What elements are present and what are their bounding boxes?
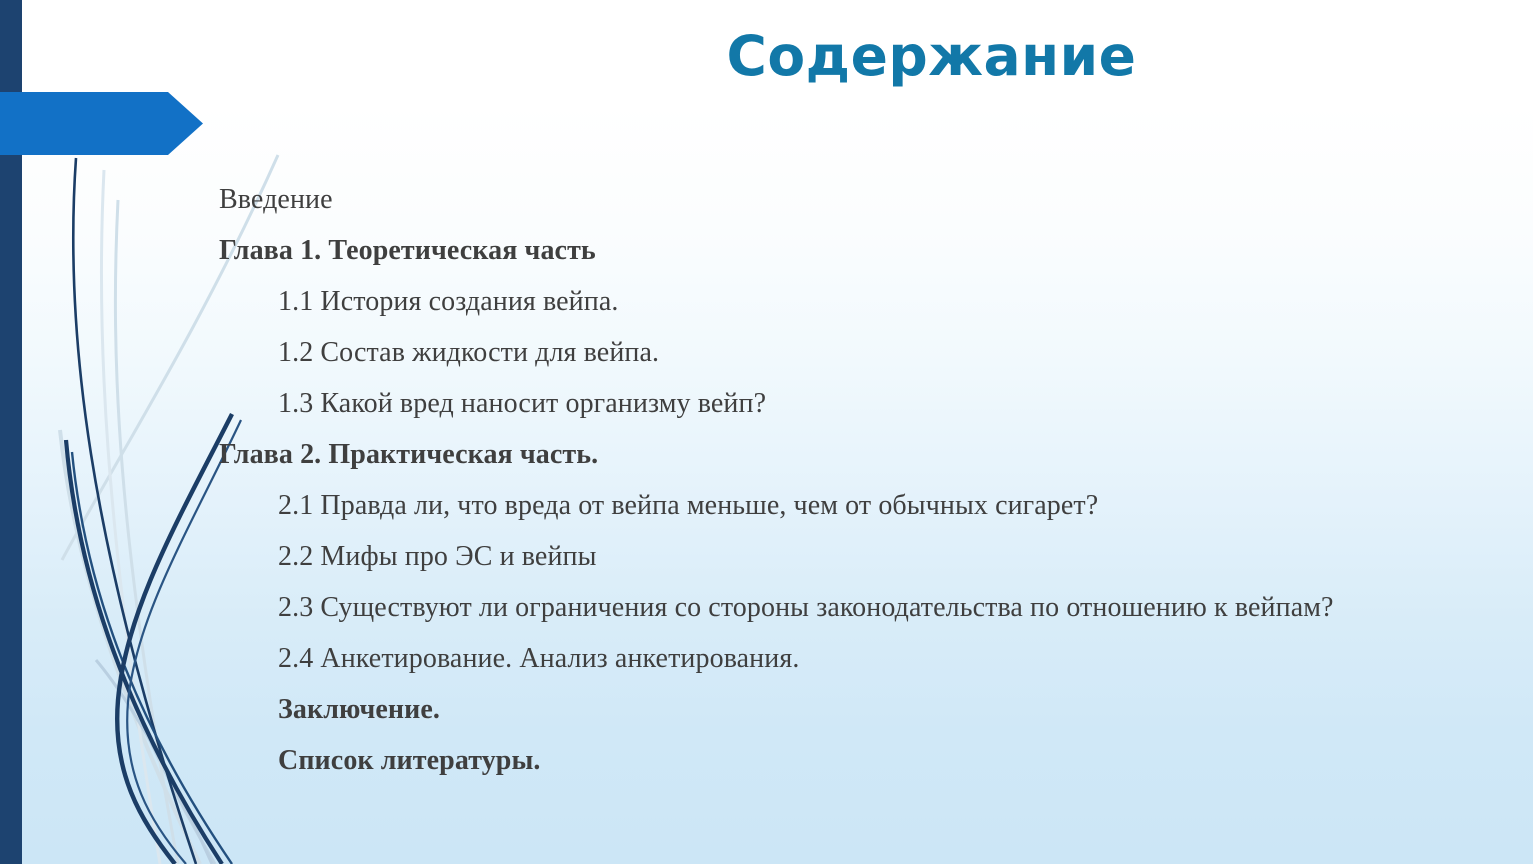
toc-item: Глава 2. Практическая часть. [219, 429, 1439, 480]
page-title: Содержание [0, 26, 1533, 87]
toc-item: Заключение. [219, 684, 1439, 735]
toc-item: 1.3 Какой вред наносит организму вейп? [219, 378, 1439, 429]
toc-item: 2.3 Существуют ли ограничения со стороны… [219, 582, 1439, 633]
toc-item: Глава 1. Теоретическая часть [219, 225, 1439, 276]
toc-item: 1.2 Состав жидкости для вейпа. [219, 327, 1439, 378]
toc-item: 2.4 Анкетирование. Анализ анкетирования. [219, 633, 1439, 684]
toc-item: 2.2 Мифы про ЭС и вейпы [219, 531, 1439, 582]
table-of-contents: Введение Глава 1. Теоретическая часть 1.… [219, 174, 1439, 786]
presentation-slide: Содержание Введение Глава 1. Теоретическ… [0, 0, 1533, 864]
toc-item: Введение [219, 174, 1439, 225]
toc-item: 2.1 Правда ли, что вреда от вейпа меньше… [219, 480, 1439, 531]
toc-item: Список литературы. [219, 735, 1439, 786]
toc-item: 1.1 История создания вейпа. [219, 276, 1439, 327]
blue-arrow-banner [0, 92, 203, 155]
